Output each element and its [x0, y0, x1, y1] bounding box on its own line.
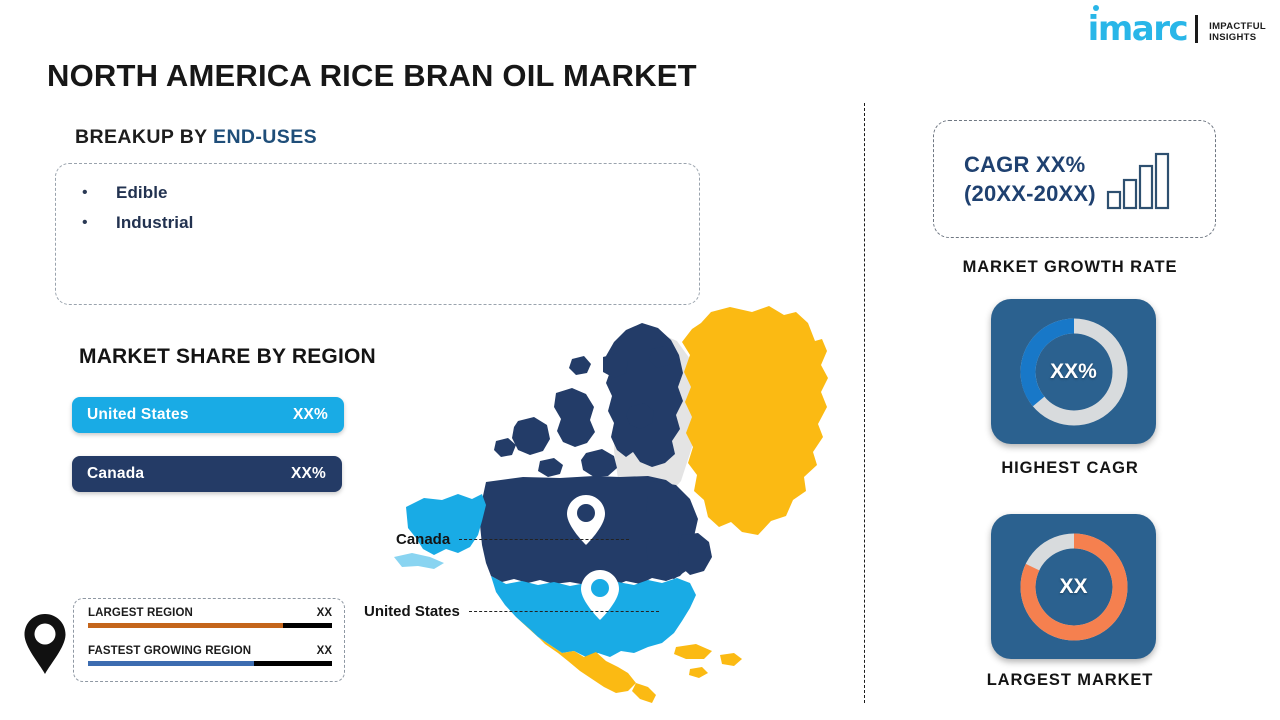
- list-item-label: Industrial: [96, 213, 194, 233]
- region-legend-box: LARGEST REGION XX FASTEST GROWING REGION…: [73, 598, 345, 682]
- logo-wordmark: imarc: [1088, 12, 1187, 46]
- donut-card-highest-cagr: XX%: [991, 299, 1156, 444]
- highest-cagr-label: HIGHEST CAGR: [860, 459, 1280, 478]
- legend-progress-track: [88, 661, 332, 666]
- legend-row-value: XX: [317, 607, 332, 619]
- logo-dot-icon: [1093, 5, 1099, 11]
- region-name: Canada: [87, 465, 144, 483]
- breakup-heading-prefix: BREAKUP BY: [75, 126, 213, 148]
- breakup-heading: BREAKUP BY END-USES: [75, 126, 317, 149]
- breakup-box: • Edible • Industrial: [55, 163, 700, 305]
- cagr-line2: (20XX-20XX): [964, 179, 1096, 208]
- region-bar-united-states: United States XX%: [72, 397, 344, 433]
- map-callout-leader-line: [469, 611, 659, 612]
- largest-market-label: LARGEST MARKET: [860, 671, 1280, 690]
- region-name: United States: [87, 406, 189, 424]
- donut-value: XX: [1059, 575, 1087, 599]
- region-value: XX%: [293, 406, 328, 424]
- legend-progress-track: [88, 623, 332, 628]
- bullet-icon: •: [78, 215, 96, 231]
- list-item: • Industrial: [78, 208, 699, 238]
- donut-card-largest-market: XX: [991, 514, 1156, 659]
- page-title: NORTH AMERICA RICE BRAN OIL MARKET: [47, 58, 697, 94]
- logo-divider: [1195, 15, 1198, 43]
- list-item: • Edible: [78, 178, 699, 208]
- legend-row-value: XX: [317, 645, 332, 657]
- logo-tagline-line1: IMPACTFUL: [1209, 21, 1266, 32]
- legend-row-fastest-growing-region: FASTEST GROWING REGION XX: [88, 645, 332, 666]
- legend-progress-fill: [88, 661, 254, 666]
- map-region-greenland: [682, 306, 828, 535]
- region-bar-canada: Canada XX%: [72, 456, 342, 492]
- cagr-text: CAGR XX% (20XX-20XX): [964, 150, 1096, 208]
- legend-progress-fill: [88, 623, 283, 628]
- market-growth-rate-label: MARKET GROWTH RATE: [860, 258, 1280, 277]
- list-item-label: Edible: [96, 183, 168, 203]
- region-value: XX%: [291, 465, 326, 483]
- logo-word-text: imarc: [1088, 12, 1187, 46]
- cagr-line1: CAGR XX%: [964, 150, 1096, 179]
- map-callout-label: United States: [364, 603, 460, 620]
- logo-tagline-line2: INSIGHTS: [1209, 32, 1266, 43]
- map-callout-canada: Canada: [396, 531, 629, 548]
- legend-row-label: FASTEST GROWING REGION: [88, 645, 251, 657]
- bar-chart-icon: [1106, 152, 1172, 210]
- breakup-list: • Edible • Industrial: [56, 164, 699, 238]
- breakup-heading-accent: END-USES: [213, 126, 317, 148]
- map-callout-united-states: United States: [364, 603, 659, 620]
- imarc-logo: imarc IMPACTFUL INSIGHTS: [1088, 12, 1266, 46]
- logo-tagline: IMPACTFUL INSIGHTS: [1209, 21, 1266, 46]
- infographic-page: imarc IMPACTFUL INSIGHTS NORTH AMERICA R…: [0, 0, 1280, 720]
- legend-row-largest-region: LARGEST REGION XX: [88, 607, 332, 628]
- map-callout-label: Canada: [396, 531, 450, 548]
- bullet-icon: •: [78, 185, 96, 201]
- map-callout-leader-line: [459, 539, 629, 540]
- vertical-divider: [864, 103, 865, 703]
- market-share-heading: MARKET SHARE BY REGION: [79, 345, 376, 369]
- cagr-box: CAGR XX% (20XX-20XX): [933, 120, 1216, 238]
- north-america-map: [390, 295, 860, 715]
- legend-row-label: LARGEST REGION: [88, 607, 193, 619]
- map-alaska-islands: [394, 553, 444, 569]
- map-pin-icon: [22, 613, 68, 675]
- donut-value: XX%: [1050, 360, 1097, 384]
